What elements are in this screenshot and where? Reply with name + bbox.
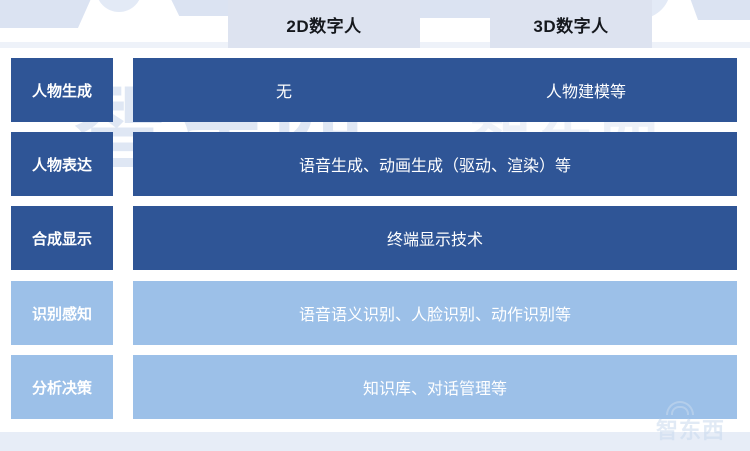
- cell-person-expression-merged: 语音生成、动画生成（驱动、渲染）等: [133, 132, 737, 196]
- logo-text: 智东西: [656, 413, 725, 445]
- cell-person-generation-3d: 人物建模等: [435, 58, 737, 122]
- cell-person-generation-2d: 无: [133, 58, 435, 122]
- row-label-synthesis-display: 合成显示: [11, 206, 113, 270]
- cell-recognition-perception-merged: 语音语义识别、人脸识别、动作识别等: [133, 281, 737, 345]
- cell-text: 语音语义识别、人脸识别、动作识别等: [299, 301, 571, 325]
- cell-text: 终端显示技术: [387, 226, 483, 250]
- table-row: 合成显示 终端显示技术: [0, 206, 750, 270]
- row-label-recognition-perception: 识别感知: [11, 281, 113, 345]
- table-row: 识别感知 语音语义识别、人脸识别、动作识别等: [0, 281, 750, 345]
- cell-text: 语音生成、动画生成（驱动、渲染）等: [299, 152, 571, 176]
- row-label-text: 合成显示: [32, 228, 92, 249]
- row-label-text: 人物生成: [32, 80, 92, 101]
- row-label-text: 人物表达: [32, 154, 92, 175]
- cell-text: 无: [276, 78, 292, 102]
- row-label-text: 分析决策: [32, 377, 92, 398]
- table-row: 人物生成 无 人物建模等: [0, 58, 750, 122]
- table-row: 分析决策 知识库、对话管理等: [0, 355, 750, 419]
- slide-canvas: 智东西 智东西 2D数字人 3D数字人 人物生成 无 人物建模等 人物表达: [0, 0, 750, 451]
- cell-synthesis-display-merged: 终端显示技术: [133, 206, 737, 270]
- table-row: 人物表达 语音生成、动画生成（驱动、渲染）等: [0, 132, 750, 196]
- cell-text: 人物建模等: [546, 78, 626, 102]
- row-label-analysis-decision: 分析决策: [11, 355, 113, 419]
- publisher-logo: 智东西: [656, 401, 742, 445]
- row-label-person-generation: 人物生成: [11, 58, 113, 122]
- row-label-text: 识别感知: [32, 303, 92, 324]
- cell-text: 知识库、对话管理等: [363, 375, 507, 399]
- table-body: 人物生成 无 人物建模等 人物表达 语音生成、动画生成（驱动、渲染）等 合成显示: [0, 0, 750, 451]
- row-label-person-expression: 人物表达: [11, 132, 113, 196]
- cell-analysis-decision-merged: 知识库、对话管理等: [133, 355, 737, 419]
